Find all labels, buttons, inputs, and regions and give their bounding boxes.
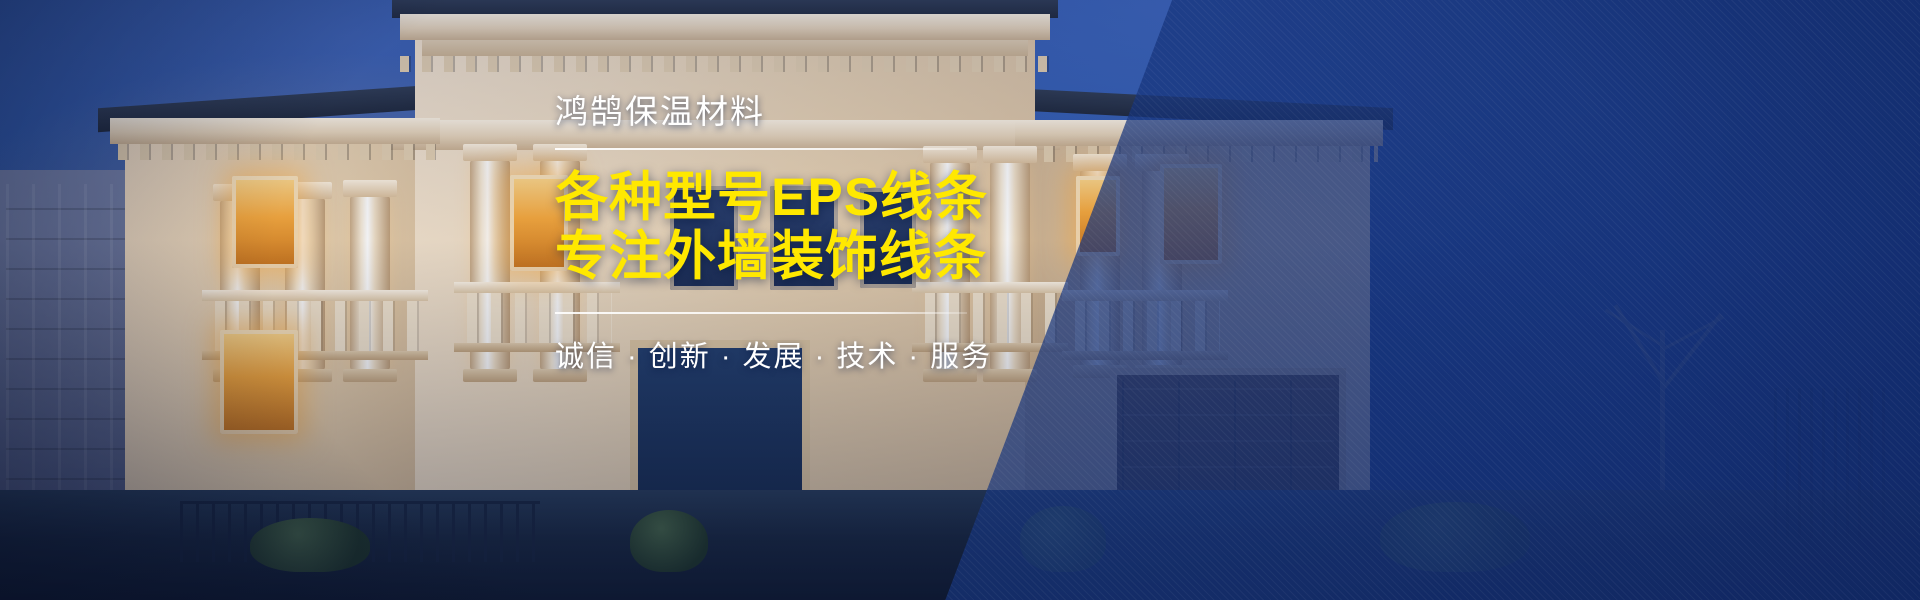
- divider-top: [555, 148, 967, 150]
- divider-bottom: [555, 312, 967, 314]
- tagline: 诚信 · 创新 · 发展 · 技术 · 服务: [555, 333, 1025, 375]
- headline: 各种型号EPS线条 专注外墙装饰线条: [555, 168, 1025, 287]
- banner-text-block: 鸿鹄保温材料 各种型号EPS线条 专注外墙装饰线条 诚信 · 创新 · 发展 ·…: [555, 92, 1025, 375]
- headline-line-1: 各种型号EPS线条: [555, 168, 988, 227]
- headline-line-2: 专注外墙装饰线条: [555, 227, 1025, 286]
- hero-banner: 鸿鹄保温材料 各种型号EPS线条 专注外墙装饰线条 诚信 · 创新 · 发展 ·…: [0, 0, 1920, 600]
- brand-name: 鸿鹄保温材料: [555, 92, 1025, 132]
